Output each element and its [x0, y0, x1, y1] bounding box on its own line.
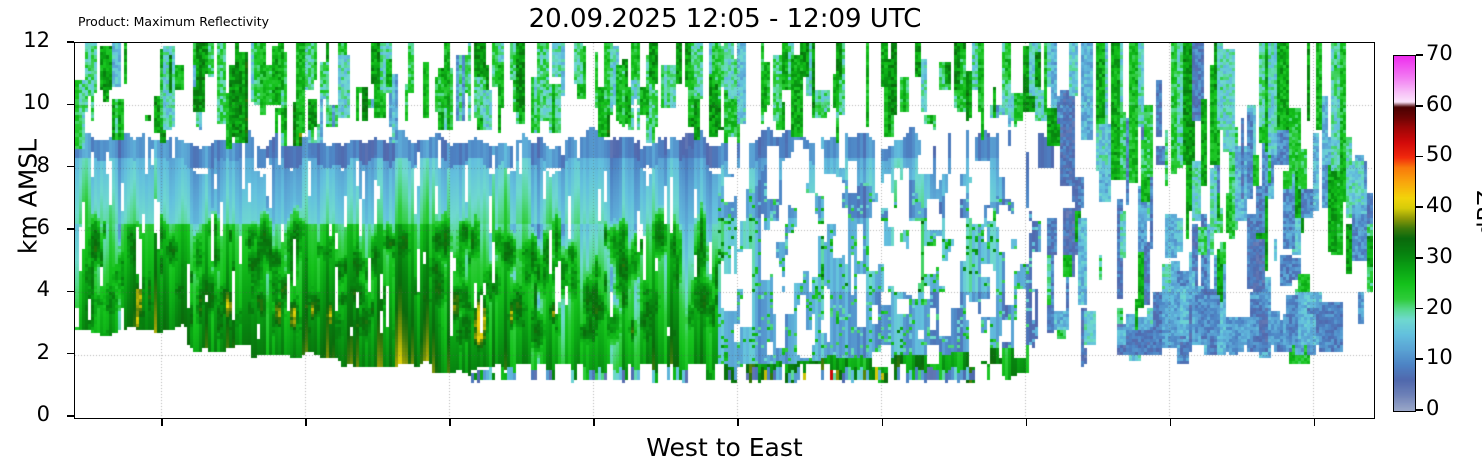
y-axis-title: km AMSL: [14, 77, 43, 317]
y-tick-mark: [67, 228, 74, 230]
colorbar-tick-mark: [1416, 206, 1423, 208]
colorbar-tick-mark: [1416, 54, 1423, 56]
x-tick-mark: [1314, 419, 1316, 426]
x-tick-mark: [449, 419, 451, 426]
colorbar-gradient: [1393, 55, 1416, 412]
colorbar[interactable]: 010203040506070: [1393, 55, 1414, 410]
x-tick-mark: [305, 419, 307, 426]
x-tick-mark: [593, 419, 595, 426]
colorbar-tick-mark: [1416, 257, 1423, 259]
colorbar-tick-label: 70: [1426, 41, 1453, 65]
colorbar-tick-mark: [1416, 156, 1423, 158]
x-tick-mark: [882, 419, 884, 426]
colorbar-title: dBZ: [1474, 133, 1482, 293]
y-tick-mark: [67, 41, 74, 43]
reflectivity-heatmap: [75, 43, 1373, 417]
colorbar-tick-mark: [1416, 105, 1423, 107]
y-tick-mark: [67, 166, 74, 168]
page-title: 20.09.2025 12:05 - 12:09 UTC: [74, 4, 1376, 34]
colorbar-tick-label: 60: [1426, 92, 1453, 116]
y-tick-mark: [67, 415, 74, 417]
radar-cross-section-figure: 20.09.2025 12:05 - 12:09 UTC Product: Ma…: [0, 0, 1482, 470]
colorbar-tick-label: 0: [1426, 396, 1439, 420]
y-tick-label: 12: [23, 28, 50, 52]
y-tick-label: 2: [37, 340, 50, 364]
x-tick-mark: [1026, 419, 1028, 426]
colorbar-tick-mark: [1416, 409, 1423, 411]
plot-area[interactable]: [74, 42, 1375, 419]
x-tick-mark: [737, 419, 739, 426]
colorbar-tick-label: 30: [1426, 244, 1453, 268]
product-annotation: Product: Maximum Reflectivity: [78, 14, 269, 29]
colorbar-tick-label: 20: [1426, 295, 1453, 319]
colorbar-tick-mark: [1416, 308, 1423, 310]
colorbar-tick-label: 10: [1426, 345, 1453, 369]
colorbar-tick-label: 40: [1426, 193, 1453, 217]
y-tick-mark: [67, 353, 74, 355]
y-tick-label: 0: [37, 402, 50, 426]
x-axis-title: West to East: [74, 433, 1375, 462]
x-tick-mark: [161, 419, 163, 426]
x-tick-mark: [1170, 419, 1172, 426]
colorbar-tick-mark: [1416, 358, 1423, 360]
y-tick-mark: [67, 104, 74, 106]
colorbar-tick-label: 50: [1426, 142, 1453, 166]
y-tick-mark: [67, 291, 74, 293]
